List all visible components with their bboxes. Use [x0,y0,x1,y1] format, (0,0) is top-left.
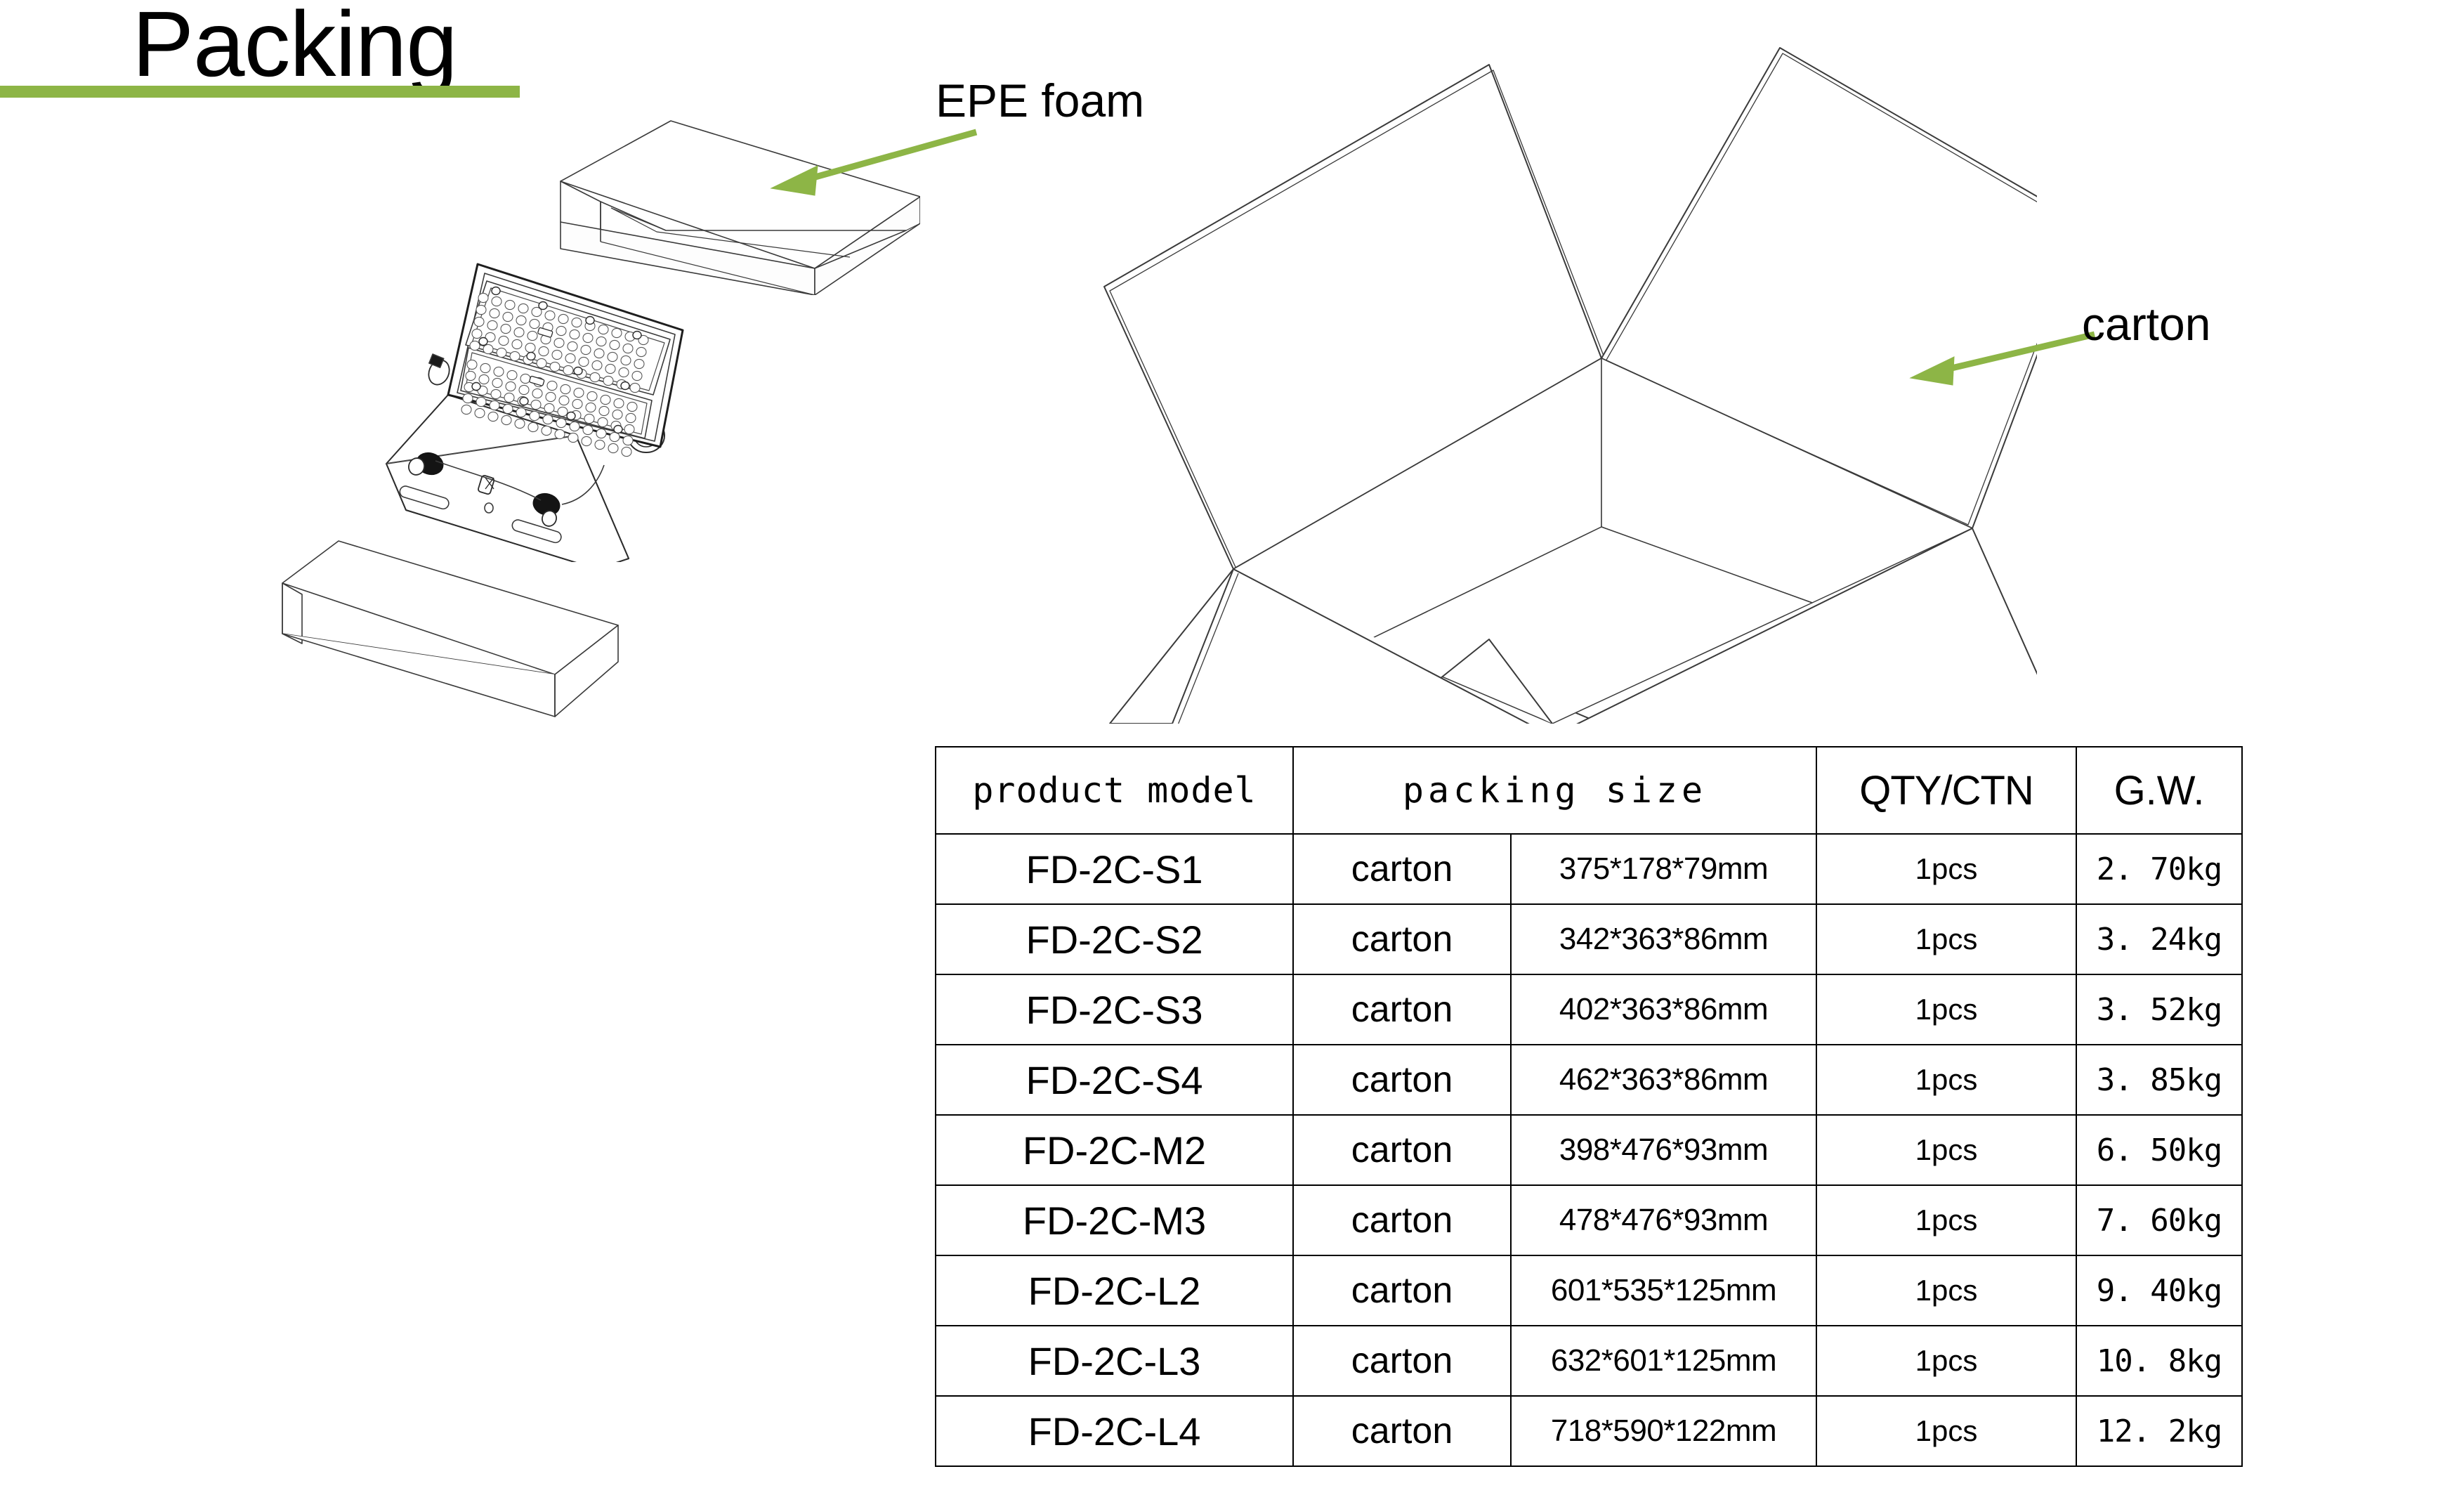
cell-qty: 1pcs [1816,1396,2076,1466]
carton-box [1068,7,2037,724]
table-row: FD-2C-S2 carton 342*363*86mm 1pcs 3. 24k… [936,904,2242,974]
cell-container: carton [1293,1115,1511,1185]
cell-container: carton [1293,834,1511,904]
cell-model: FD-2C-S1 [936,834,1293,904]
table-row: FD-2C-M3 carton 478*476*93mm 1pcs 7. 60k… [936,1185,2242,1255]
title-accent-rule [0,86,520,98]
table-row: FD-2C-L2 carton 601*535*125mm 1pcs 9. 40… [936,1255,2242,1326]
packing-table: product model packing size QTY/CTN G.W. … [935,746,2243,1467]
table-row: FD-2C-M2 carton 398*476*93mm 1pcs 6. 50k… [936,1115,2242,1185]
cell-qty: 1pcs [1816,1115,2076,1185]
table-row: FD-2C-L4 carton 718*590*122mm 1pcs 12. 2… [936,1396,2242,1466]
column-header-gross-weight: G.W. [2076,747,2242,834]
cell-model: FD-2C-L3 [936,1326,1293,1396]
table-row: FD-2C-S4 carton 462*363*86mm 1pcs 3. 85k… [936,1045,2242,1115]
table-row: FD-2C-S3 carton 402*363*86mm 1pcs 3. 52k… [936,974,2242,1045]
cell-model: FD-2C-S3 [936,974,1293,1045]
cell-container: carton [1293,1185,1511,1255]
cell-size: 342*363*86mm [1511,904,1816,974]
cell-size: 718*590*122mm [1511,1396,1816,1466]
cell-model: FD-2C-L4 [936,1396,1293,1466]
packing-table-body: FD-2C-S1 carton 375*178*79mm 1pcs 2. 70k… [936,834,2242,1466]
cell-container: carton [1293,974,1511,1045]
cell-size: 601*535*125mm [1511,1255,1816,1326]
cell-qty: 1pcs [1816,1185,2076,1255]
cell-qty: 1pcs [1816,1045,2076,1115]
column-header-product-model: product model [936,747,1293,834]
cell-container: carton [1293,1396,1511,1466]
table-row: FD-2C-S1 carton 375*178*79mm 1pcs 2. 70k… [936,834,2242,904]
cell-container: carton [1293,1255,1511,1326]
cell-gross-weight: 6. 50kg [2076,1115,2242,1185]
cell-model: FD-2C-S2 [936,904,1293,974]
cell-gross-weight: 10. 8kg [2076,1326,2242,1396]
page-title: Packing [132,0,457,93]
cell-model: FD-2C-L2 [936,1255,1293,1326]
cell-qty: 1pcs [1816,1326,2076,1396]
carton-callout-arrow [1889,309,2100,400]
cell-size: 375*178*79mm [1511,834,1816,904]
cell-size: 632*601*125mm [1511,1326,1816,1396]
cell-container: carton [1293,1326,1511,1396]
carton-label: carton [2082,301,2210,347]
column-header-qty-per-ctn: QTY/CTN [1816,747,2076,834]
cell-model: FD-2C-M2 [936,1115,1293,1185]
epe-foam-label: EPE foam [936,77,1144,124]
column-header-packing-size: packing size [1293,747,1816,834]
cell-model: FD-2C-M3 [936,1185,1293,1255]
cell-gross-weight: 12. 2kg [2076,1396,2242,1466]
cell-size: 398*476*93mm [1511,1115,1816,1185]
cell-qty: 1pcs [1816,1255,2076,1326]
led-floodlight [365,239,829,562]
table-row: FD-2C-L3 carton 632*601*125mm 1pcs 10. 8… [936,1326,2242,1396]
cell-qty: 1pcs [1816,974,2076,1045]
cell-gross-weight: 7. 60kg [2076,1185,2242,1255]
cell-size: 462*363*86mm [1511,1045,1816,1115]
cell-gross-weight: 3. 52kg [2076,974,2242,1045]
cell-gross-weight: 3. 85kg [2076,1045,2242,1115]
cell-size: 402*363*86mm [1511,974,1816,1045]
cell-model: FD-2C-S4 [936,1045,1293,1115]
packing-table-container: product model packing size QTY/CTN G.W. … [935,746,2241,1467]
cell-gross-weight: 2. 70kg [2076,834,2242,904]
epe-foam-top-block [485,91,920,295]
cell-container: carton [1293,1045,1511,1115]
cell-gross-weight: 9. 40kg [2076,1255,2242,1326]
cell-qty: 1pcs [1816,834,2076,904]
cell-qty: 1pcs [1816,904,2076,974]
cell-size: 478*476*93mm [1511,1185,1816,1255]
epe-foam-bottom-block [260,513,674,724]
cell-gross-weight: 3. 24kg [2076,904,2242,974]
cell-container: carton [1293,904,1511,974]
table-header-row: product model packing size QTY/CTN G.W. [936,747,2242,834]
